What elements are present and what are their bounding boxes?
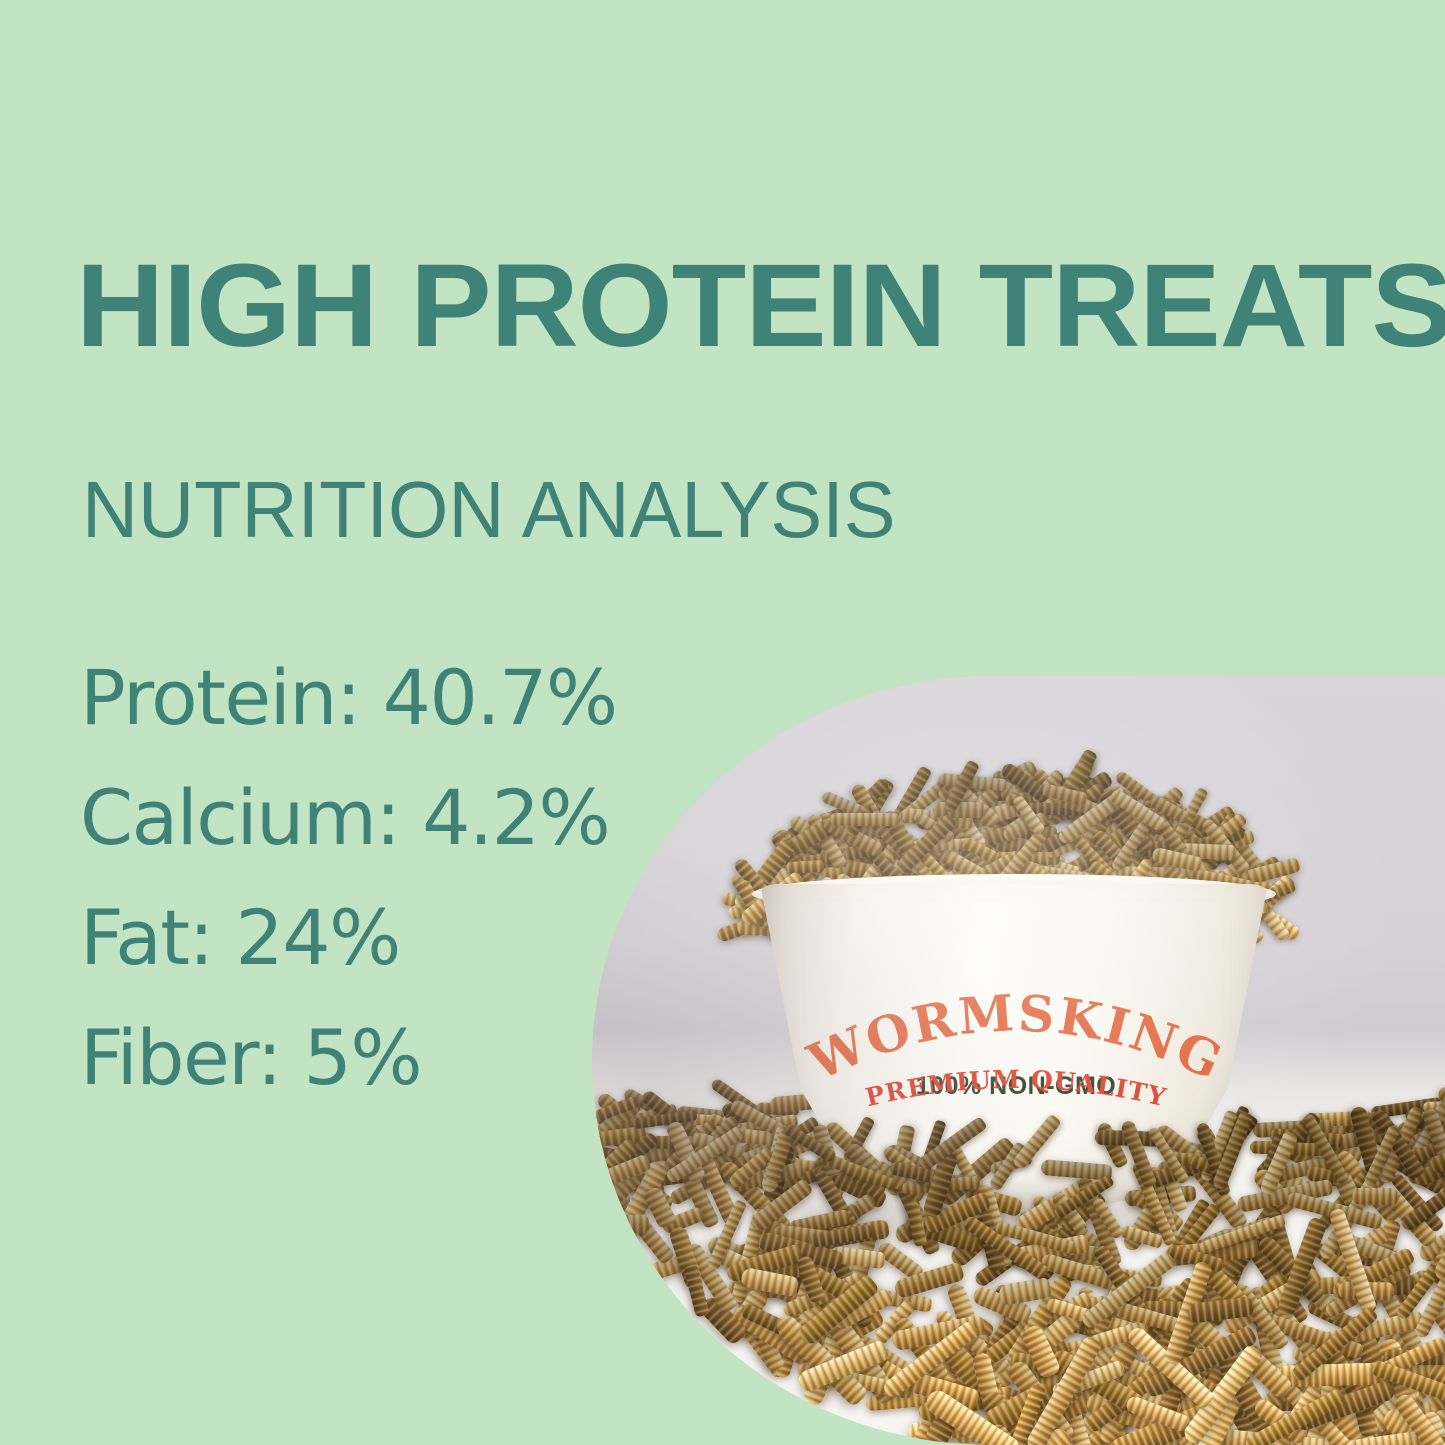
product-infographic: HIGH PROTEIN TREATS NUTRITION ANALYSIS P… <box>0 0 1445 1445</box>
page-title: HIGH PROTEIN TREATS <box>76 247 1445 365</box>
product-photo: WORMSKING 100% NON-GMO PREMIUM QUALITY <box>592 676 1445 1445</box>
page-subtitle: NUTRITION ANALYSIS <box>82 470 896 550</box>
bowl-contact-shadow <box>788 1196 1240 1234</box>
